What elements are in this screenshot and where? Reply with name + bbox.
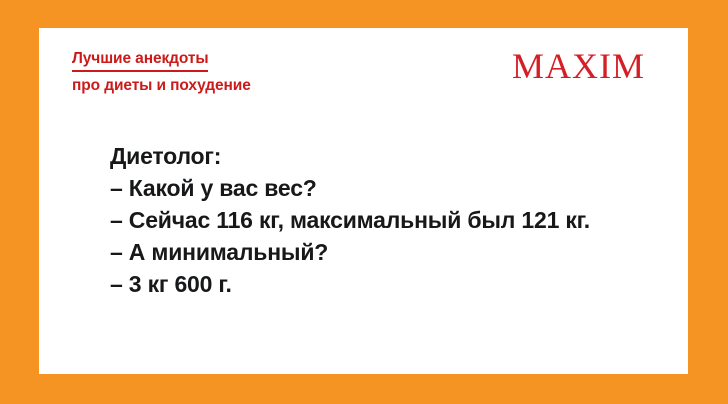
kicker-line-2: про диеты и похудение	[72, 75, 251, 96]
joke-line: – Какой у вас вес?	[110, 172, 670, 204]
kicker-line-1: Лучшие анекдоты	[72, 48, 208, 72]
white-card: Лучшие анекдоты про диеты и похудение MA…	[39, 28, 688, 374]
joke-line: Диетолог:	[110, 140, 670, 172]
joke-text-block: Диетолог: – Какой у вас вес? – Сейчас 11…	[110, 140, 670, 300]
joke-line: – Сейчас 116 кг, максимальный был 121 кг…	[110, 204, 670, 236]
card-header: Лучшие анекдоты про диеты и похудение MA…	[39, 28, 688, 106]
kicker-heading: Лучшие анекдоты про диеты и похудение	[72, 48, 251, 96]
poster-frame: Лучшие анекдоты про диеты и похудение MA…	[0, 0, 728, 404]
joke-line: – 3 кг 600 г.	[110, 268, 670, 300]
maxim-logo: MAXIM	[512, 47, 645, 85]
joke-line: – А минимальный?	[110, 236, 670, 268]
